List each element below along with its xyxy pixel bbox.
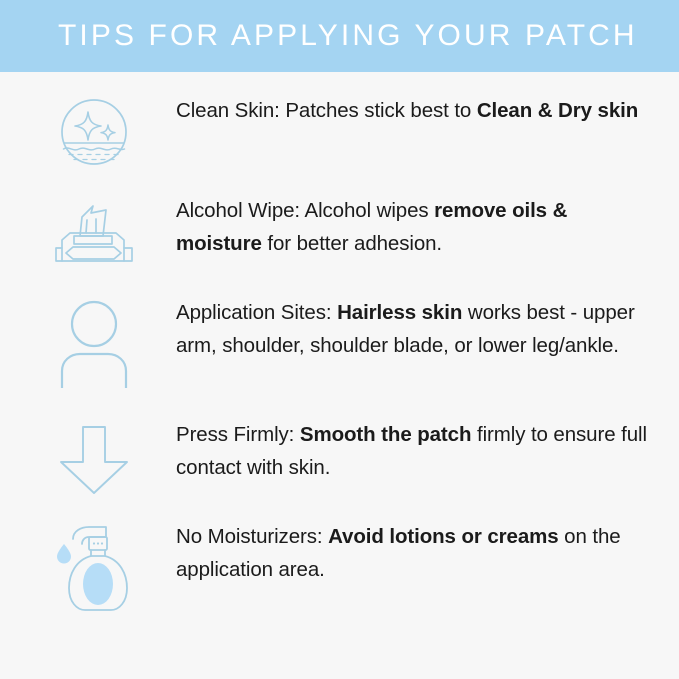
no-moisturizers-lotion-bottle-icon <box>40 516 148 616</box>
alcohol-wipe-icon <box>40 190 148 276</box>
header-banner: TIPS FOR APPLYING YOUR PATCH <box>0 0 679 72</box>
press-firmly-down-arrow-icon <box>40 414 148 500</box>
tip-row-application-sites: Application Sites: Hairless skin works b… <box>0 292 679 400</box>
tip-text-bold: Hairless skin <box>337 301 462 324</box>
tip-text-before: No Moisturizers: <box>176 525 328 548</box>
tip-text-before: Application Sites: <box>176 301 337 324</box>
tip-row-no-moisturizers: No Moisturizers: Avoid lotions or creams… <box>0 516 679 616</box>
clean-skin-icon <box>40 90 148 176</box>
tip-row-clean-skin: Clean Skin: Patches stick best to Clean … <box>0 90 679 176</box>
tip-text-no-moisturizers: No Moisturizers: Avoid lotions or creams… <box>148 516 655 586</box>
page-title: TIPS FOR APPLYING YOUR PATCH <box>58 21 638 51</box>
tip-text-before: Alcohol Wipe: Alcohol wipes <box>176 199 434 222</box>
tips-list: Clean Skin: Patches stick best to Clean … <box>0 72 679 616</box>
tip-text-alcohol-wipe: Alcohol Wipe: Alcohol wipes remove oils … <box>148 190 655 260</box>
tip-text-application-sites: Application Sites: Hairless skin works b… <box>148 292 655 362</box>
tip-row-alcohol-wipe: Alcohol Wipe: Alcohol wipes remove oils … <box>0 190 679 276</box>
tip-row-press-firmly: Press Firmly: Smooth the patch firmly to… <box>0 414 679 500</box>
tip-text-bold: Smooth the patch <box>300 423 472 446</box>
tip-text-before: Clean Skin: Patches stick best to <box>176 99 477 122</box>
tips-infographic: TIPS FOR APPLYING YOUR PATCH <box>0 0 679 679</box>
tip-text-after: for better adhesion. <box>262 232 442 255</box>
application-sites-person-icon <box>40 292 148 400</box>
tip-text-bold: Avoid lotions or creams <box>328 525 558 548</box>
tip-text-clean-skin: Clean Skin: Patches stick best to Clean … <box>148 90 655 127</box>
tip-text-before: Press Firmly: <box>176 423 300 446</box>
tip-text-bold: Clean & Dry skin <box>477 99 638 122</box>
tip-text-press-firmly: Press Firmly: Smooth the patch firmly to… <box>148 414 655 484</box>
